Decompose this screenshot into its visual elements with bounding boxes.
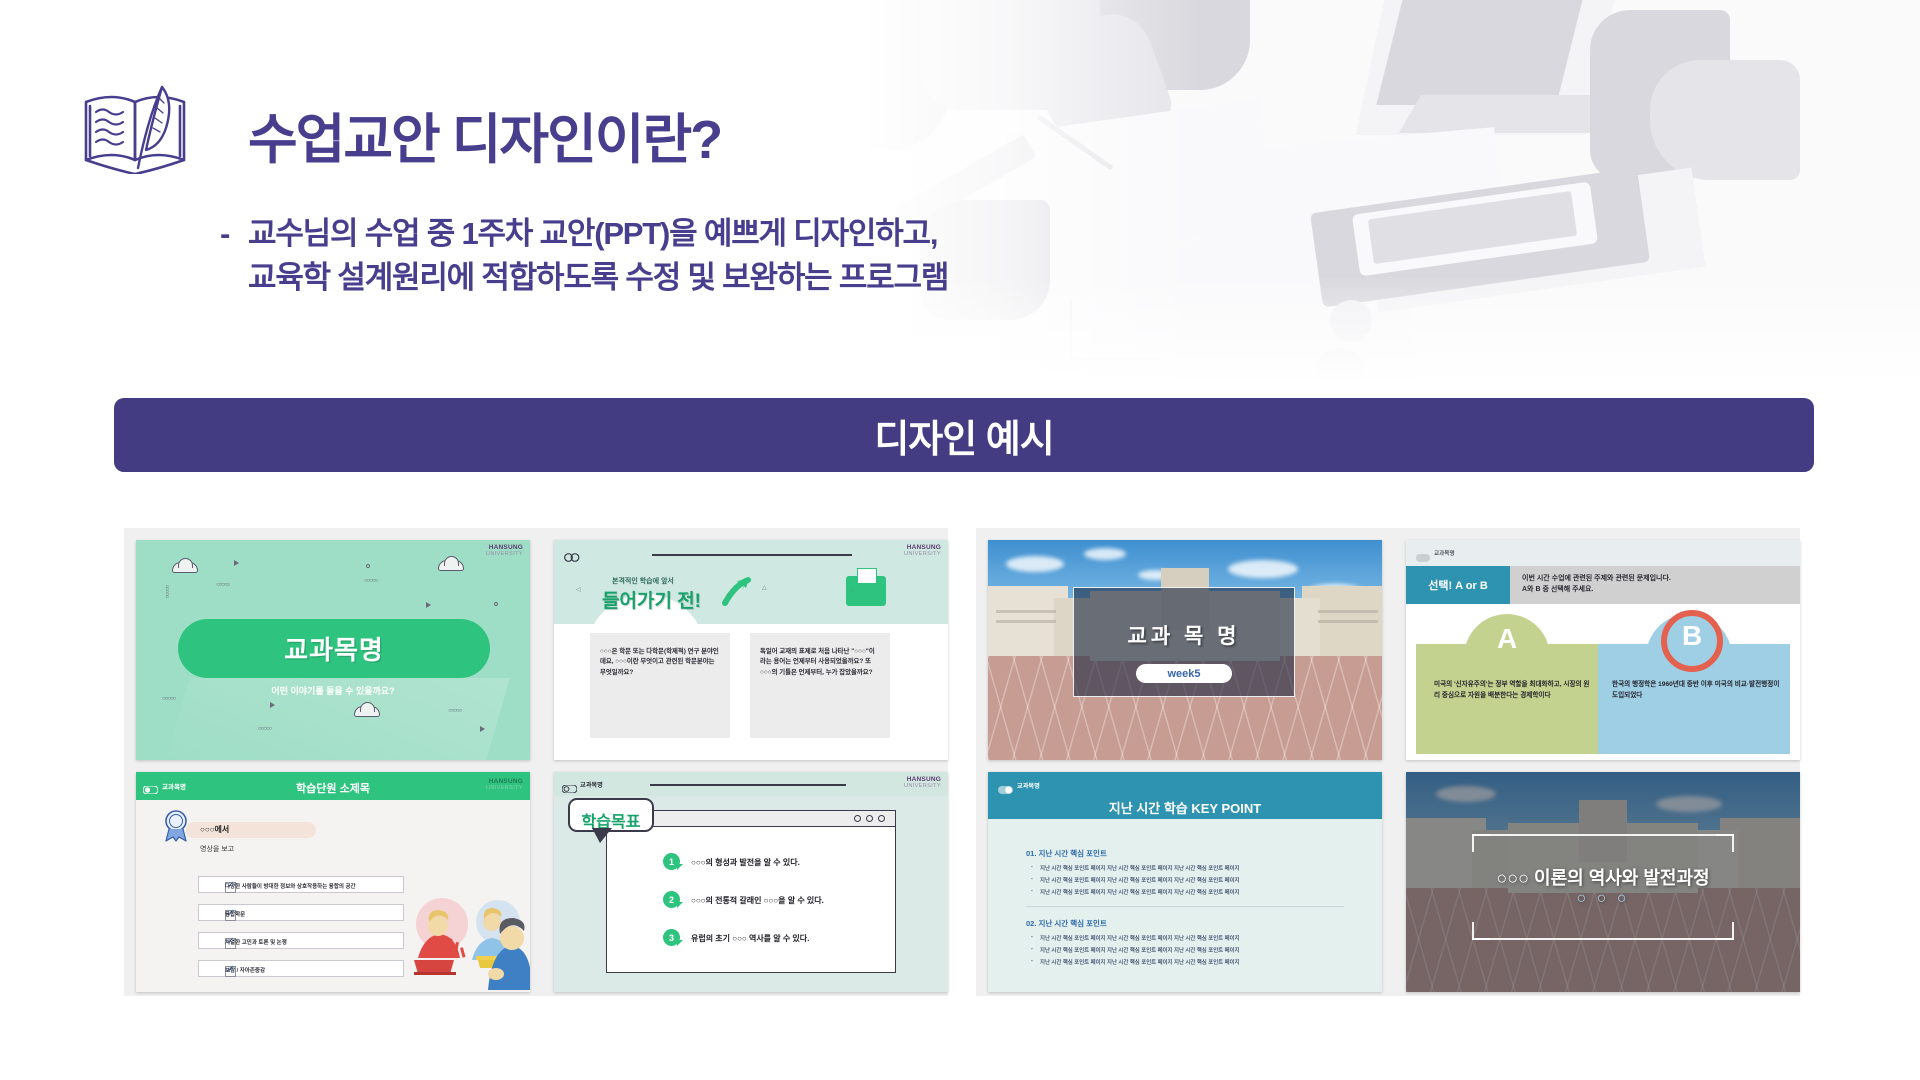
- t3-title-frame: 교과 목 명 week5: [1073, 587, 1295, 697]
- t7-bullet: 지난 시간 핵심 포인트 페이지 지난 시간 핵심 포인트 페이지 지난 시간 …: [1040, 946, 1240, 954]
- thumbnail-unit-subtitle-checklist[interactable]: 교과목명 학습단원 소제목 HANSUNG UNIVERSITY ○○○에서 영…: [136, 772, 530, 992]
- t7-tag: 교과목명: [1017, 781, 1040, 790]
- t1-title: 교과목명: [284, 630, 384, 667]
- goal-number: 2: [663, 891, 680, 908]
- goal-text: ○○○의 전통적 갈래인 ○○○을 알 수 있다.: [691, 895, 824, 906]
- t1-title-pill: 교과목명: [178, 619, 490, 678]
- list-item[interactable]: 다양한 사람들이 방대한 정보와 상호작용하는 융합의 공간: [198, 876, 404, 893]
- t2-question-box-2: 독일어 교재의 표제로 처음 나타난 "○○○"이라는 용어는 언제부터 사용되…: [750, 633, 890, 738]
- t3-week-badge: week5: [1136, 664, 1232, 683]
- window-dot-icon: [878, 815, 885, 822]
- hansung-logo: HANSUNG UNIVERSITY: [486, 545, 523, 557]
- thumbnail-course-title-cover-mint[interactable]: ○○○○○ ○○○○○ ○○○○○ ○○○○○ ○○○○○ ○○○○○ 교과목명…: [136, 540, 530, 760]
- design-examples-banner: 디자인 예시: [114, 398, 1814, 472]
- book-quill-icon: [78, 84, 196, 174]
- t5-sub-line: 영상을 보고: [200, 844, 234, 854]
- t2-box1-text: ○○○은 학문 또는 다학문(학제적) 연구 분야인데요, ○○○이란 무엇이고…: [600, 647, 720, 678]
- subtitle-line-1: 교수님의 수업 중 1주차 교안(PPT)을 예쁘게 디자인하고,: [248, 212, 948, 256]
- t7-bullet: 지난 시간 핵심 포인트 페이지 지난 시간 핵심 포인트 페이지 지난 시간 …: [1040, 876, 1240, 884]
- t8-line-2: ○ ○ ○: [1406, 890, 1800, 908]
- toggle-icon: [998, 781, 1013, 799]
- t7-title: 지난 시간 학습 KEY POINT: [988, 798, 1382, 817]
- t4-letter-b: B: [1682, 620, 1702, 652]
- page-subtitle: - 교수님의 수업 중 1주차 교안(PPT)을 예쁘게 디자인하고, 교육학 …: [248, 212, 948, 300]
- page-title: 수업교안 디자인이란?: [248, 95, 721, 174]
- thumbnail-learning-objectives[interactable]: 교과목명 HANSUNG UNIVERSITY 1 ○○○의 형성과 발전을 알…: [554, 772, 948, 992]
- presentation-slide: 수업교안 디자인이란? - 교수님의 수업 중 1주차 교안(PPT)을 예쁘게…: [0, 0, 1920, 1080]
- t7-bullet: 지난 시간 핵심 포인트 페이지 지난 시간 핵심 포인트 페이지 지난 시간 …: [1040, 934, 1240, 942]
- t8-line-1: ○○○ 이론의 역사와 발전과정: [1406, 864, 1800, 890]
- hansung-logo: HANSUNG UNIVERSITY: [486, 779, 523, 791]
- t4-letter-a: A: [1497, 623, 1517, 655]
- toggle-icon: [562, 780, 577, 798]
- thumbnail-before-we-begin[interactable]: 본격적인 학습에 앞서 들어가기 전! ◁ ○ △ ○ ○○○은 학문 또는 다…: [554, 540, 948, 760]
- t3-title: 교과 목 명: [1074, 620, 1294, 650]
- toggle-icon: [564, 549, 580, 567]
- window-dot-icon: [854, 815, 861, 822]
- hansung-logo: HANSUNG UNIVERSITY: [904, 545, 941, 557]
- thumbnail-course-title-cover-photo[interactable]: 교과 목 명 week5: [988, 540, 1382, 760]
- t7-bullet: 지난 시간 핵심 포인트 페이지 지난 시간 핵심 포인트 페이지 지난 시간 …: [1040, 958, 1240, 966]
- t7-section-2: 02. 지난 시간 핵심 포인트: [1026, 918, 1107, 929]
- t2-heading: 들어가기 전!: [602, 586, 701, 613]
- goal-text: ○○○의 형성과 발전을 알 수 있다.: [691, 857, 800, 868]
- banner-label: 디자인 예시: [874, 408, 1053, 463]
- t5-title: 학습단원 소제목: [136, 780, 530, 796]
- list-item[interactable]: 보람 / 자아존중감: [198, 960, 404, 977]
- hansung-logo: HANSUNG UNIVERSITY: [904, 777, 941, 789]
- t2-eyebrow: 본격적인 학습에 앞서: [612, 576, 674, 586]
- goal-text: 유럽의 초기 ○○○ 역사를 알 수 있다.: [691, 933, 809, 944]
- thumbnail-theory-history-cover[interactable]: ○○○ 이론의 역사와 발전과정 ○ ○ ○: [1406, 772, 1800, 992]
- t4-choice-label: 선택! A or B: [1406, 566, 1510, 604]
- t2-question-box-1: ○○○은 학문 또는 다학문(학제적) 연구 분야인데요, ○○○이란 무엇이고…: [590, 633, 730, 738]
- t5-name-line: ○○○에서: [200, 824, 229, 835]
- t6-tag: 교과목명: [580, 780, 603, 789]
- t4-instruction: 이번 시간 수업에 관련된 주제와 관련된 문제입니다. A와 B 중 선택해 …: [1522, 573, 1671, 596]
- arrow-up-icon: [722, 576, 752, 606]
- thumbnail-choice-a-or-b[interactable]: 교과목명 선택! A or B 이번 시간 수업에 관련된 주제와 관련된 문제…: [1406, 540, 1800, 760]
- t4-option-a-text: 미국의 '신자유주의'는 정부 역할을 최대화하고, 시장의 원리 중심으로 자…: [1434, 680, 1590, 702]
- t7-bullet: 지난 시간 핵심 포인트 페이지 지난 시간 핵심 포인트 페이지 지난 시간 …: [1040, 864, 1240, 872]
- t4-option-b-text: 한국의 행정학은 1960년대 중반 이후 미국의 비교·발전행정이 도입되었다: [1612, 680, 1780, 702]
- people-illustration: [410, 882, 520, 992]
- background-meeting-photo: [770, 0, 1920, 395]
- list-item[interactable]: 치열한 고민과 토론 및 논쟁: [198, 932, 404, 949]
- t7-section-1: 01. 지난 시간 핵심 포인트: [1026, 848, 1107, 859]
- window-dot-icon: [866, 815, 873, 822]
- tag-dot-icon: [1416, 549, 1430, 567]
- goal-number: 3: [663, 929, 680, 946]
- t6-speech-bubble: 학습목표: [568, 798, 654, 832]
- goal-number: 1: [663, 853, 680, 870]
- t4-tag: 교과목명: [1434, 549, 1455, 557]
- list-item[interactable]: 융합학문: [198, 904, 404, 921]
- subtitle-dash: -: [220, 212, 229, 256]
- t6-window: 1 ○○○의 형성과 발전을 알 수 있다. 2 ○○○의 전통적 갈래인 ○○…: [606, 810, 896, 973]
- thumbnail-previous-key-point[interactable]: 교과목명 지난 시간 학습 KEY POINT 01. 지난 시간 핵심 포인트…: [988, 772, 1382, 992]
- t2-box2-text: 독일어 교재의 표제로 처음 나타난 "○○○"이라는 용어는 언제부터 사용되…: [760, 647, 880, 678]
- t7-bullet: 지난 시간 핵심 포인트 페이지 지난 시간 핵심 포인트 페이지 지난 시간 …: [1040, 888, 1240, 896]
- t1-subtitle: 어떤 이야기를 들을 수 있을까요?: [136, 684, 530, 697]
- subtitle-line-2: 교육학 설계원리에 적합하도록 수정 및 보완하는 프로그램: [248, 256, 948, 300]
